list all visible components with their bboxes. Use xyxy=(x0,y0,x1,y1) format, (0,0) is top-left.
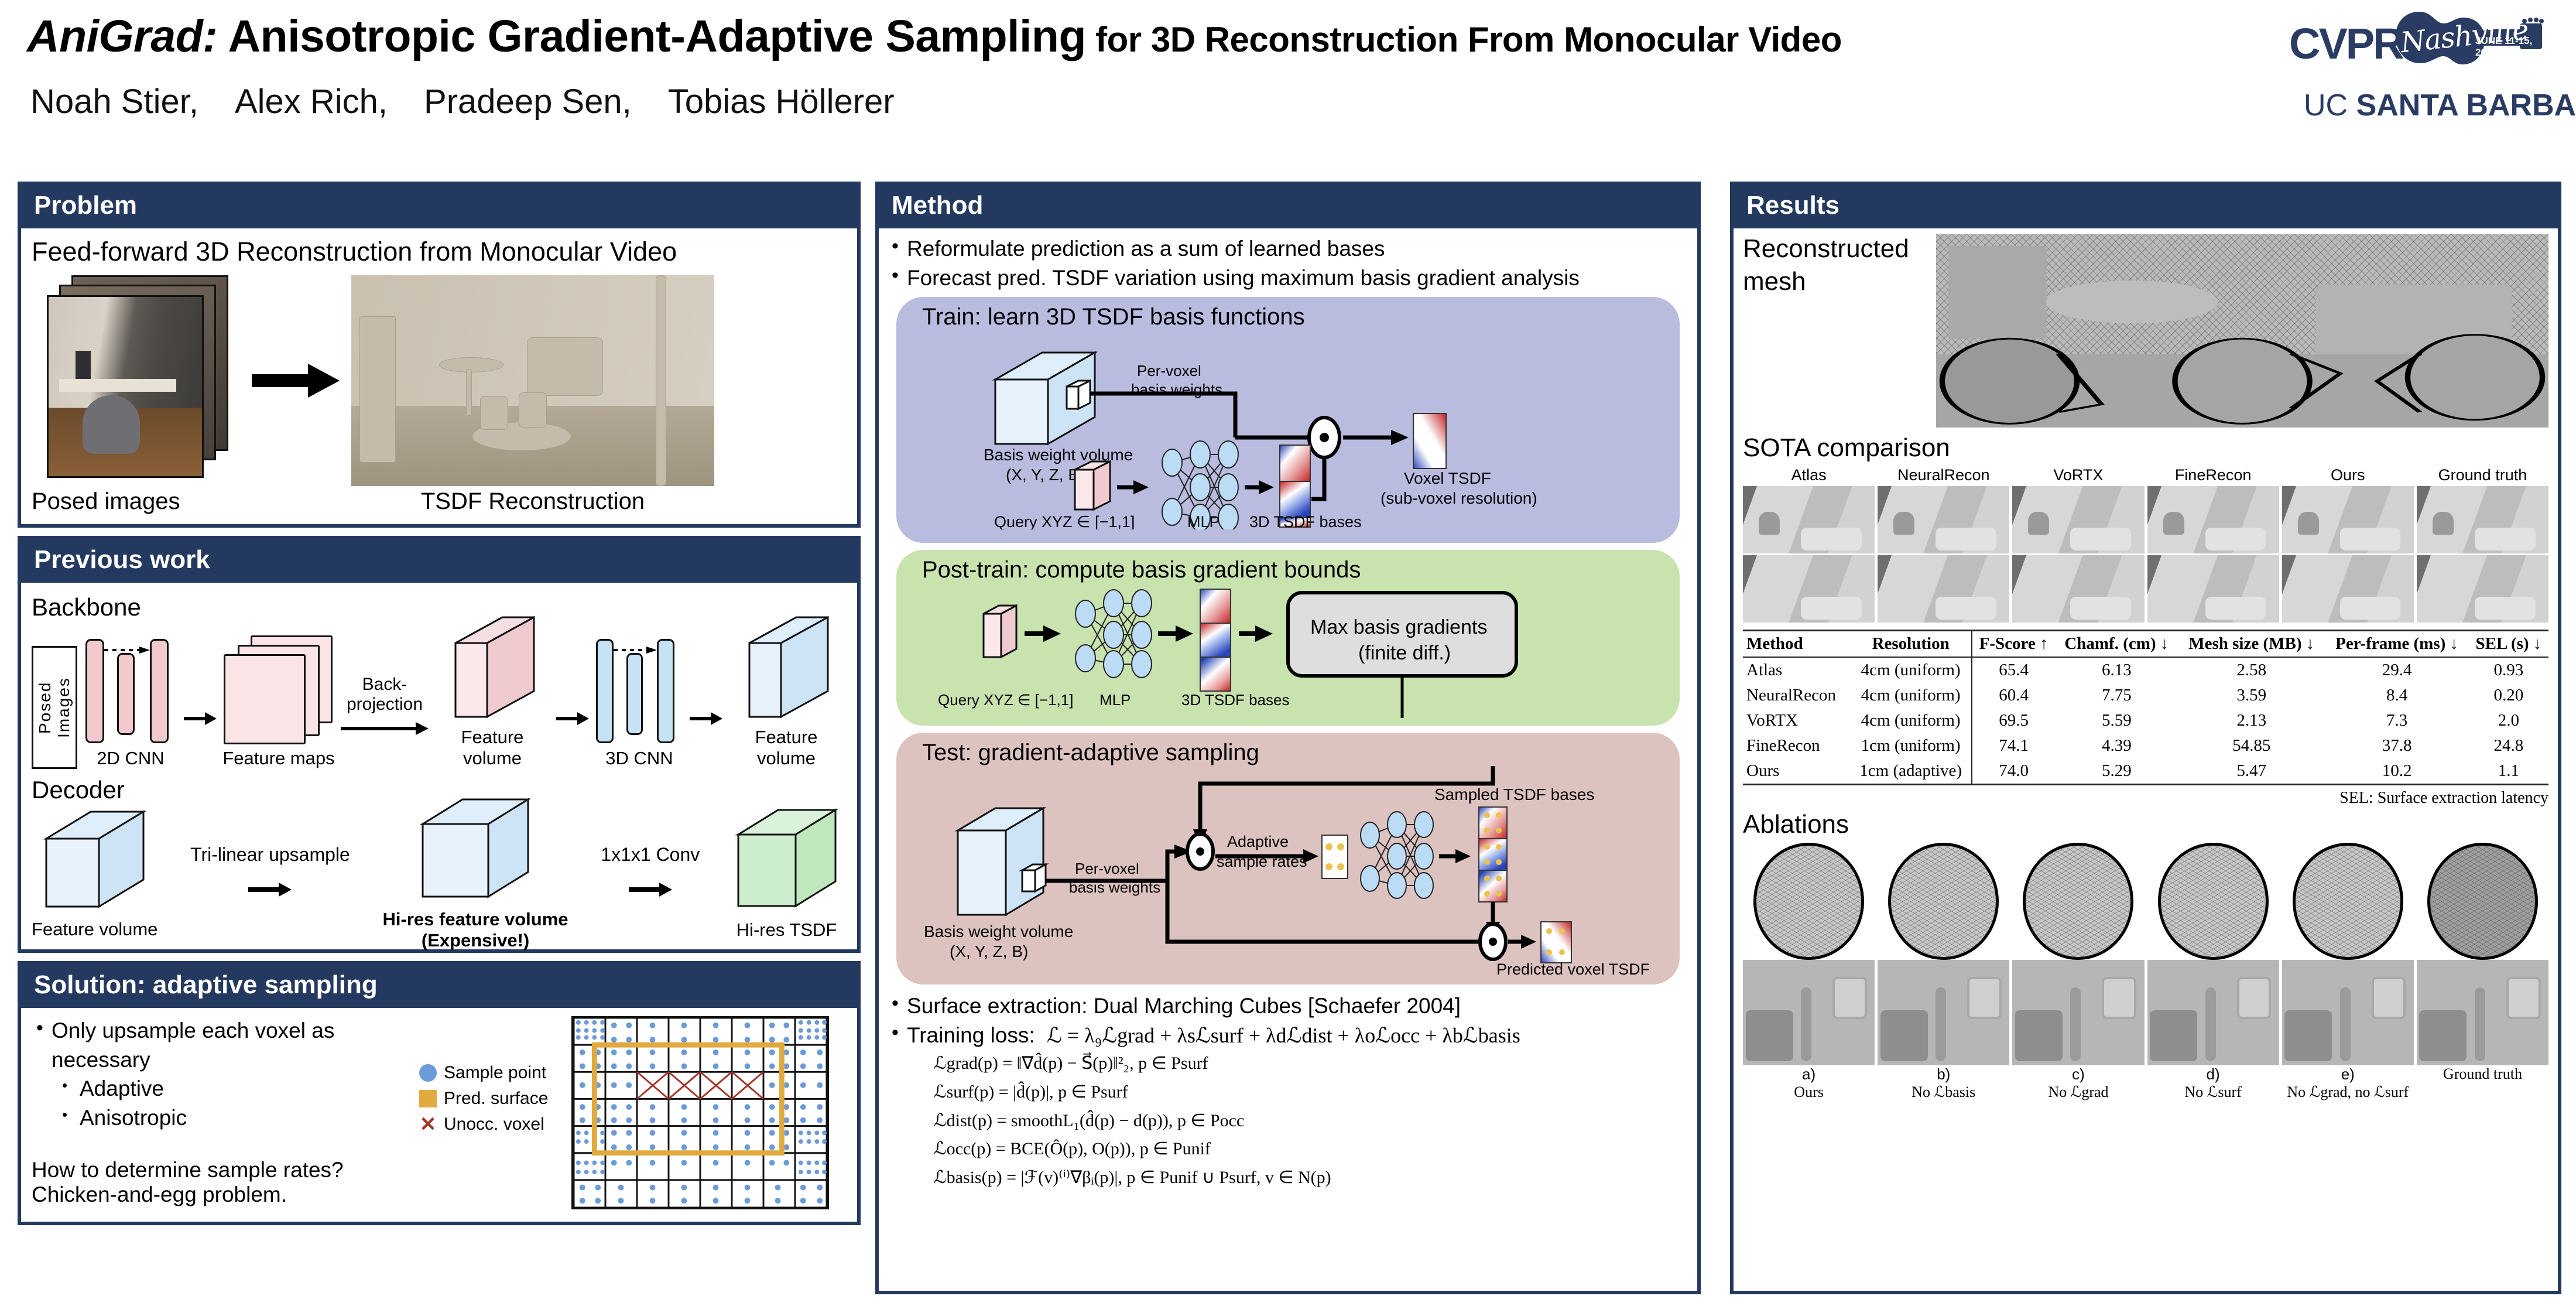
cvpr-logo: CVPR Nashville JUNE 11-15, 2025 xyxy=(2289,5,2547,75)
recon-door-frame xyxy=(656,275,666,486)
sota-col-0: Atlas xyxy=(1743,466,1875,484)
author-1: Alex Rich, xyxy=(235,83,388,121)
sota-image-neuralrecon-bottom xyxy=(1878,555,2009,623)
cell-resolution: 1cm (uniform) xyxy=(1851,733,1972,758)
cell-chamfer: 4.39 xyxy=(2056,733,2178,758)
ablation-zoom-e xyxy=(2282,843,2414,960)
dot-product-icon xyxy=(1187,834,1213,869)
ablation-label-4: No ℒgrad, no ℒsurf xyxy=(2282,1083,2414,1101)
decoder-op-1: Tri-linear upsample xyxy=(190,844,350,901)
cell-meshsize: 2.13 xyxy=(2178,708,2325,733)
panel-posttrain: Post-train: compute basis gradient bound… xyxy=(896,550,1680,726)
decoder-op1-label: Tri-linear upsample xyxy=(190,844,350,866)
pervoxel-label-l1: Per-voxel xyxy=(1137,362,1201,380)
right-arrow-icon xyxy=(690,710,722,727)
decoder-label-2-l2: (Expensive!) xyxy=(383,930,568,951)
section-method-heading: Method xyxy=(879,185,1697,228)
sota-label-0: Atlas xyxy=(1743,466,1875,484)
backbone-label-3: 3D CNN xyxy=(592,748,686,769)
cell-sel: 24.8 xyxy=(2469,733,2548,758)
decoder-stage-3: Hi-res TSDF xyxy=(732,805,841,941)
sota-image-ours-top xyxy=(2282,486,2414,553)
cnn-2d-glyph xyxy=(81,633,180,748)
backbone-stage-featvol-1: Feature volume xyxy=(432,609,553,769)
max-basis-grad-l1: Max basis gradients xyxy=(1310,616,1487,638)
solution-bullets: Only upsample each voxel as necessary Ad… xyxy=(32,1016,419,1132)
sota-image-gt-bottom xyxy=(2417,555,2548,623)
unocc-voxel-x-icon: ✕ xyxy=(419,1116,437,1133)
solution-legend: Sample point Pred. surface ✕ Unocc. voxe… xyxy=(419,1016,571,1212)
max-basis-grad-l2: (finite diff.) xyxy=(1358,642,1451,664)
sampled-bases-stack xyxy=(1479,807,1507,902)
ablation-image-a xyxy=(1743,960,1875,1065)
sota-image-atlas-top xyxy=(1743,486,1875,553)
reconstructed-mesh-block: Reconstructed mesh xyxy=(1743,234,2548,428)
sota-image-vortx-top xyxy=(2012,486,2144,553)
th-meshsize: Mesh size (MB) ↓ xyxy=(2178,631,2325,658)
ablation-zoom-gt xyxy=(2417,843,2548,960)
results-table-head: Method Resolution F-Score ↑ Chamf. (cm) … xyxy=(1743,631,2548,658)
th-chamfer: Chamf. (cm) ↓ xyxy=(2056,631,2178,658)
mlp-network-icon xyxy=(1075,590,1152,678)
legend-entry-pred-surface: Pred. surface xyxy=(419,1089,571,1109)
feature-volume-cube-icon xyxy=(742,609,830,724)
equation-occ: ℒocc(p) = BCE(Ô(p), O(p)), p ∈ Punif xyxy=(934,1135,1689,1164)
cell-chamfer: 6.13 xyxy=(2056,657,2178,683)
cell-meshsize: 3.59 xyxy=(2178,683,2325,708)
dot-product-icon xyxy=(1480,924,1506,959)
panel-test: Test: gradient-adaptive sampling Ba xyxy=(896,733,1680,984)
mlp-network-icon xyxy=(1361,812,1433,898)
ablation-image-c xyxy=(2012,960,2144,1065)
basis-weight-volume-icon xyxy=(958,808,1046,915)
section-results-heading: Results xyxy=(1734,185,2558,228)
right-arrow-icon xyxy=(252,360,340,401)
cell-meshsize: 5.47 xyxy=(2178,758,2325,784)
tsdf-recon-caption: TSDF Reconstruction xyxy=(351,488,714,515)
ablation-cell-d: d) No ℒsurf xyxy=(2147,843,2279,1101)
panel-train-title: Train: learn 3D TSDF basis functions xyxy=(896,297,1680,330)
ablation-key-0: a) xyxy=(1743,1065,1875,1083)
photo-chair xyxy=(83,395,140,454)
poster-header: AniGrad: Anisotropic Gradient-Adaptive S… xyxy=(0,0,2576,176)
query-cube-icon xyxy=(984,606,1016,657)
cell-perframe: 37.8 xyxy=(2325,733,2468,758)
backbone-input-label: Posed Images xyxy=(32,646,77,769)
predicted-voxel-tsdf-label: Predicted voxel TSDF xyxy=(1496,960,1650,977)
sota-label-2: VoRTX xyxy=(2012,466,2144,484)
ablation-label-5: Ground truth xyxy=(2417,1065,2548,1083)
sampled-bases-label: Sampled TSDF bases xyxy=(1434,785,1594,804)
sota-label-1: NeuralRecon xyxy=(1878,466,2009,484)
feature-maps-glyph xyxy=(220,633,337,748)
tsdf-recon-group: TSDF Reconstruction xyxy=(351,275,714,515)
method-bullet-0: Reformulate prediction as a sum of learn… xyxy=(887,234,1689,264)
ablation-zoom-a xyxy=(1743,843,1875,960)
backbone-arrow-1 xyxy=(184,710,217,769)
solution-question-l1: How to determine sample rates? xyxy=(32,1158,419,1182)
cell-sel: 0.93 xyxy=(2469,657,2548,683)
photo-desk xyxy=(59,379,176,392)
hires-feature-volume-cube-icon xyxy=(417,795,534,906)
training-loss-label: Training loss: xyxy=(907,1023,1035,1047)
cell-perframe: 10.2 xyxy=(2325,758,2468,784)
poster-root: AniGrad: Anisotropic Gradient-Adaptive S… xyxy=(0,0,2576,1306)
section-method-body: Reformulate prediction as a sum of learn… xyxy=(879,228,1697,1198)
posttrain-mlp-label: MLP xyxy=(1099,691,1131,709)
table-header-row: Method Resolution F-Score ↑ Chamf. (cm) … xyxy=(1743,631,2548,658)
sota-col-4: Ours xyxy=(2282,466,2414,484)
cell-method: FineRecon xyxy=(1743,733,1851,758)
sota-label-4: Ours xyxy=(2282,466,2414,484)
section-solution-heading: Solution: adaptive sampling xyxy=(21,965,857,1008)
th-method: Method xyxy=(1743,631,1851,658)
section-problem: Problem Feed-forward 3D Reconstruction f… xyxy=(18,182,861,528)
train-diagram: Basis weight volume (X, Y, Z, B) Per-vox… xyxy=(896,330,1680,529)
test-diagram: Basis weight volume (X, Y, Z, B) Per-vox… xyxy=(896,766,1680,977)
cell-sel: 0.20 xyxy=(2469,683,2548,708)
bases-label: 3D TSDF bases xyxy=(1249,513,1362,529)
pred-surface-line-icon xyxy=(419,1090,437,1107)
affiliation-uc: UC xyxy=(2304,88,2356,122)
backbone-stage-featmaps: Feature maps xyxy=(220,633,337,769)
sota-image-ours-bottom xyxy=(2282,555,2414,623)
conference-dates: JUNE 11-15, 2025 xyxy=(2475,35,2547,59)
cell-meshsize: 54.85 xyxy=(2178,733,2325,758)
sample-point-dot-icon xyxy=(419,1064,437,1082)
ablation-cell-c: c) No ℒgrad xyxy=(2012,843,2144,1101)
sota-col-5: Ground truth xyxy=(2417,466,2548,484)
legend-label-0: Sample point xyxy=(444,1063,546,1083)
ablation-image-e xyxy=(2282,960,2414,1065)
photo-monitor xyxy=(76,351,91,381)
decoder-stage-2: Hi-res feature volume (Expensive!) xyxy=(383,795,568,951)
ablation-label-0: Ours xyxy=(1743,1083,1875,1101)
solution-bullet-2: Anisotropic xyxy=(32,1103,419,1133)
cell-method: Ours xyxy=(1743,758,1851,784)
cell-chamfer: 7.75 xyxy=(2056,683,2178,708)
section-previous-work-body: Backbone Posed Images 2D CNN xyxy=(21,583,857,949)
mesh-title-l1: Reconstructed xyxy=(1743,234,1936,264)
ablation-image-b xyxy=(1878,960,2009,1065)
dashed-skip-arrow-icon xyxy=(614,646,659,654)
ablation-label-3: No ℒsurf xyxy=(2147,1083,2279,1101)
backbone-label-1: Feature maps xyxy=(220,748,337,769)
sampling-grid-figure xyxy=(571,1016,847,1212)
table-row: FineRecon 1cm (uniform) 74.1 4.39 54.85 … xyxy=(1743,733,2548,758)
legend-entry-unocc-voxel: ✕ Unocc. voxel xyxy=(419,1114,571,1134)
right-arrow-icon xyxy=(556,710,589,727)
table-row: VoRTX 4cm (uniform) 69.5 5.59 2.13 7.3 2… xyxy=(1743,708,2548,733)
author-list: Noah Stier,Alex Rich,Pradeep Sen,Tobias … xyxy=(30,82,931,121)
method-bottom-bullets: Surface extraction: Dual Marching Cubes … xyxy=(887,992,1689,1049)
title-short-name: AniGrad: xyxy=(27,11,217,61)
sota-image-finerecon-top xyxy=(2147,486,2279,553)
tsdf-reconstruction-image xyxy=(351,275,714,486)
title-main: Anisotropic Gradient-Adaptive Sampling xyxy=(217,11,1086,61)
solution-question-l2: Chicken-and-egg problem. xyxy=(32,1182,419,1207)
feature-volume-cube-icon xyxy=(448,609,536,724)
cell-method: VoRTX xyxy=(1743,708,1851,733)
cell-meshsize: 2.58 xyxy=(2178,657,2325,683)
ablation-key-3: d) xyxy=(2147,1065,2279,1083)
section-results-body: Reconstructed mesh xyxy=(1734,228,2558,1107)
cell-method: Atlas xyxy=(1743,657,1851,683)
decoder-diagram: Feature volume Tri-linear upsample xyxy=(32,805,847,940)
test-basis-volume-l2: (X, Y, Z, B) xyxy=(950,942,1028,960)
ablation-cell-e: e) No ℒgrad, no ℒsurf xyxy=(2282,843,2414,1101)
section-solution: Solution: adaptive sampling Only upsampl… xyxy=(18,961,861,1225)
cell-resolution: 4cm (uniform) xyxy=(1851,708,1972,733)
equation-grad: ℒgrad(p) = ‖∇d̂(p) − S⃗(p)‖²₂, p ∈ Psurf xyxy=(934,1049,1689,1078)
posed-images-caption: Posed images xyxy=(32,488,240,515)
backbone-stage-featvol-2: Feature volume xyxy=(726,609,847,769)
section-method: Method Reformulate prediction as a sum o… xyxy=(875,182,1701,1294)
problem-subtitle: Feed-forward 3D Reconstruction from Mono… xyxy=(32,237,847,267)
cell-method: NeuralRecon xyxy=(1743,683,1851,708)
dot-product-icon xyxy=(1309,418,1340,457)
panel-train: Train: learn 3D TSDF basis functions Bas… xyxy=(896,297,1680,543)
reconstructed-mesh-image xyxy=(1936,234,2548,428)
sota-image-gt-top xyxy=(2417,486,2548,553)
sota-labels-row: Atlas NeuralRecon VoRTX FineRecon Ours G… xyxy=(1743,466,2548,484)
section-problem-body: Feed-forward 3D Reconstruction from Mono… xyxy=(21,228,857,524)
mesh-zoom-callouts xyxy=(1936,234,2548,428)
ablation-key-2: c) xyxy=(2012,1065,2144,1083)
table-row: Ours 1cm (adaptive) 74.0 5.29 5.47 10.2 … xyxy=(1743,758,2548,784)
decoder-op2-label: 1x1x1 Conv xyxy=(601,844,700,866)
cell-resolution: 4cm (uniform) xyxy=(1851,657,1972,683)
method-bullets: Reformulate prediction as a sum of learn… xyxy=(887,234,1689,292)
ablation-cell-a: a) Ours xyxy=(1743,843,1875,1101)
solution-bullet-1: Adaptive xyxy=(32,1074,419,1103)
method-bullet-training-loss: Training loss: ℒ = λ₉ℒgrad + λsℒsurf + λ… xyxy=(887,1021,1689,1050)
results-table: Method Resolution F-Score ↑ Chamf. (cm) … xyxy=(1743,630,2548,784)
affiliation-campus: SANTA BARBARA xyxy=(2356,88,2576,122)
equation-basis: ℒbasis(p) = |ℱ(v)⁽ⁱ⁾∇βᵢ(p)|, p ∈ Punif ∪… xyxy=(934,1164,1689,1192)
page-title: AniGrad: Anisotropic Gradient-Adaptive S… xyxy=(27,11,1842,63)
backbone-stage-3dcnn: 3D CNN xyxy=(592,633,686,769)
backbone-label-4: Feature volume xyxy=(726,727,847,769)
mesh-title-l2: mesh xyxy=(1743,267,1936,296)
ablation-image-d xyxy=(2147,960,2279,1065)
posed-images-group: Posed images xyxy=(32,275,240,515)
column-left: Problem Feed-forward 3D Reconstruction f… xyxy=(18,182,861,1233)
posttrain-query-label: Query XYZ ∈ [−1,1] xyxy=(938,691,1073,709)
feature-volume-cube-icon xyxy=(40,806,149,916)
sota-image-finerecon-bottom xyxy=(2147,555,2279,623)
backbone-label-0: 2D CNN xyxy=(81,748,180,769)
basis-weight-volume-icon xyxy=(995,353,1095,444)
decoder-op-2: 1x1x1 Conv xyxy=(601,844,700,901)
table-row: NeuralRecon 4cm (uniform) 60.4 7.75 3.59… xyxy=(1743,683,2548,708)
posttrain-diagram: Max basis gradients (finite diff.) Query… xyxy=(896,583,1680,718)
results-table-wrap: Method Resolution F-Score ↑ Chamf. (cm) … xyxy=(1743,630,2548,785)
sota-title: SOTA comparison xyxy=(1743,433,2548,463)
equation-dist: ℒdist(p) = smoothL₁(d̂(p) − d(p)), p ∈ P… xyxy=(934,1107,1689,1136)
sota-col-2: VoRTX xyxy=(2012,466,2144,484)
sota-label-3: FineRecon xyxy=(2147,466,2279,484)
ablation-label-1: No ℒbasis xyxy=(1878,1083,2009,1101)
cell-fscore: 74.0 xyxy=(1972,758,2056,784)
sota-col-1: NeuralRecon xyxy=(1878,466,2009,484)
cnn-3d-glyph xyxy=(592,633,686,748)
ablation-cell-b: b) No ℒbasis xyxy=(1878,843,2009,1101)
solution-text-group: Only upsample each voxel as necessary Ad… xyxy=(32,1016,419,1212)
backbone-arrow-2 xyxy=(556,710,589,769)
cell-resolution: 4cm (uniform) xyxy=(1851,683,1972,708)
test-basis-volume-l1: Basis weight volume xyxy=(924,922,1073,941)
training-loss-formula: ℒ = λ₉ℒgrad + λsℒsurf + λdℒdist + λoℒocc… xyxy=(1047,1024,1520,1047)
th-perframe: Per-frame (ms) ↓ xyxy=(2325,631,2468,658)
problem-arrow xyxy=(240,275,351,486)
ablation-zoom-d xyxy=(2147,843,2279,960)
author-0: Noah Stier, xyxy=(30,83,198,121)
backbone-diagram: Posed Images 2D CNN xyxy=(32,623,847,769)
right-arrow-icon xyxy=(341,720,429,737)
legend-label-1: Pred. surface xyxy=(444,1089,548,1109)
th-resolution: Resolution xyxy=(1851,631,1972,658)
ablation-key-4: e) xyxy=(2282,1065,2414,1083)
dashed-skip-arrow-icon xyxy=(104,646,152,654)
adaptive-sampling-grid-icon xyxy=(571,1016,829,1209)
posed-image-front xyxy=(47,295,204,478)
sota-label-5: Ground truth xyxy=(2417,466,2548,484)
cell-fscore: 65.4 xyxy=(1972,657,2056,683)
method-bullet-surface-extraction: Surface extraction: Dual Marching Cubes … xyxy=(887,992,1689,1021)
cvpr-wordmark: CVPR xyxy=(2289,19,2403,69)
right-arrow-icon xyxy=(248,881,292,898)
mlp-label: MLP xyxy=(1187,513,1220,529)
column-right: Results Reconstructed mesh xyxy=(1730,182,2561,1302)
decoder-label-2-l1: Hi-res feature volume xyxy=(383,909,568,930)
cell-perframe: 29.4 xyxy=(2325,657,2468,683)
th-fscore: F-Score ↑ xyxy=(1972,631,2056,658)
basis-volume-label-l2: (X, Y, Z, B) xyxy=(1006,466,1084,484)
posed-images-stack xyxy=(47,275,240,486)
cell-fscore: 69.5 xyxy=(1972,708,2056,733)
voxel-tsdf-label-l2: (sub-voxel resolution) xyxy=(1381,489,1537,507)
adaptive-rates-l1: Adaptive xyxy=(1227,833,1289,850)
equation-surf: ℒsurf(p) = |d̂(p)|, p ∈ Psurf xyxy=(934,1078,1689,1107)
recon-cabinet xyxy=(527,337,603,396)
section-problem-heading: Problem xyxy=(21,185,857,228)
legend-entry-sample-point: Sample point xyxy=(419,1063,571,1083)
decoder-label-3: Hi-res TSDF xyxy=(732,919,841,941)
loss-equations: ℒgrad(p) = ‖∇d̂(p) − S⃗(p)‖²₂, p ∈ Psurf… xyxy=(887,1049,1689,1192)
right-arrow-icon xyxy=(629,881,672,898)
decoder-label-1: Feature volume xyxy=(32,919,157,940)
solution-bullet-0: Only upsample each voxel as necessary xyxy=(32,1016,419,1074)
ablation-key-1: b) xyxy=(1878,1065,2009,1083)
sota-row-top xyxy=(1743,486,2548,553)
recon-chair-1 xyxy=(480,396,508,430)
table-row: Atlas 4cm (uniform) 65.4 6.13 2.58 29.4 … xyxy=(1743,657,2548,683)
backbone-arrow-3 xyxy=(690,710,722,769)
cell-chamfer: 5.29 xyxy=(2056,758,2178,784)
sota-image-vortx-bottom xyxy=(2012,555,2144,623)
cell-resolution: 1cm (adaptive) xyxy=(1851,758,1972,784)
query-cube-icon xyxy=(1075,461,1110,510)
section-solution-body: Only upsample each voxel as necessary Ad… xyxy=(21,1008,857,1222)
ablation-zoom-c xyxy=(2012,843,2144,960)
posttrain-bases-label: 3D TSDF bases xyxy=(1181,691,1289,709)
author-2: Pradeep Sen, xyxy=(424,83,632,121)
hires-tsdf-cube-icon xyxy=(732,805,841,917)
recon-shelf xyxy=(359,316,396,463)
section-previous-work: Previous work Backbone Posed Images xyxy=(18,536,861,953)
backbone-label-2: Feature volume xyxy=(432,727,553,769)
ablation-zoom-b xyxy=(1878,843,2009,960)
voxel-tsdf-label-l1: Voxel TSDF xyxy=(1404,469,1491,487)
section-results: Results Reconstructed mesh xyxy=(1730,182,2561,1294)
table-footnote: SEL: Surface extraction latency xyxy=(1743,789,2548,808)
title-tail: for 3D Reconstruction From Monocular Vid… xyxy=(1086,20,1842,59)
cell-fscore: 60.4 xyxy=(1972,683,2056,708)
right-arrow-icon xyxy=(184,710,217,727)
ablation-cell-gt: Ground truth xyxy=(2417,843,2548,1101)
ablation-label-2: No ℒgrad xyxy=(2012,1083,2144,1101)
sota-image-neuralrecon-top xyxy=(1878,486,2009,553)
results-table-body: Atlas 4cm (uniform) 65.4 6.13 2.58 29.4 … xyxy=(1743,657,2548,784)
backbone-stage-2dcnn: 2D CNN xyxy=(81,633,180,769)
recon-chair-2 xyxy=(519,392,547,428)
method-bullet-1: Forecast pred. TSDF variation using maxi… xyxy=(887,264,1689,293)
legend-label-2: Unocc. voxel xyxy=(444,1114,544,1134)
panel-posttrain-title: Post-train: compute basis gradient bound… xyxy=(896,550,1680,583)
cell-fscore: 74.1 xyxy=(1972,733,2056,758)
panel-test-title: Test: gradient-adaptive sampling xyxy=(896,733,1680,766)
sota-row-bottom xyxy=(1743,555,2548,623)
reconstructed-mesh-title: Reconstructed mesh xyxy=(1743,234,1936,300)
problem-figure: Posed images xyxy=(32,275,847,515)
cell-chamfer: 5.59 xyxy=(2056,708,2178,733)
ablation-image-gt xyxy=(2417,960,2548,1065)
test-pervoxel-l1: Per-voxel xyxy=(1075,860,1139,877)
ablations-row: a) Ours b) No ℒbasis c) No ℒgrad xyxy=(1743,843,2548,1101)
column-middle: Method Reformulate prediction as a sum o… xyxy=(875,182,1701,1302)
cell-perframe: 8.4 xyxy=(2325,683,2468,708)
cell-sel: 2.0 xyxy=(2469,708,2548,733)
affiliation: UC SANTA BARBARA xyxy=(2304,88,2576,123)
ablations-title: Ablations xyxy=(1743,810,2548,839)
author-3: Tobias Höllerer xyxy=(668,83,895,121)
query-label: Query XYZ ∈ [−1,1] xyxy=(994,513,1135,529)
backprojection-label-l2: projection xyxy=(341,695,429,714)
decoder-stage-1: Feature volume xyxy=(32,806,157,940)
cell-sel: 1.1 xyxy=(2469,758,2548,784)
cell-perframe: 7.3 xyxy=(2325,708,2468,733)
backprojection-label-l1: Back- xyxy=(341,675,429,695)
sota-col-3: FineRecon xyxy=(2147,466,2279,484)
sota-image-atlas-bottom xyxy=(1743,555,1875,623)
recon-table-leg xyxy=(466,369,472,416)
section-previous-work-heading: Previous work xyxy=(21,539,857,583)
th-sel: SEL (s) ↓ xyxy=(2469,631,2548,658)
backbone-backprojection: Back- projection xyxy=(341,675,429,769)
